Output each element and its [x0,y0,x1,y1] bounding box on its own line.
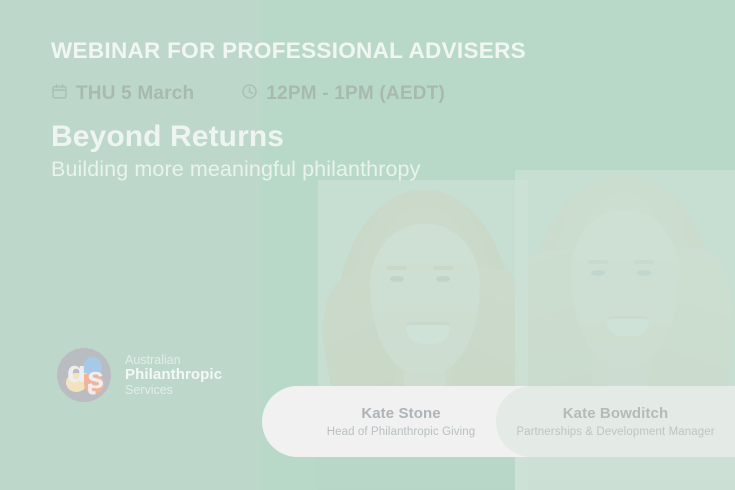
clock-icon [241,83,258,105]
logo-line-australian: Australian [125,353,222,367]
speaker-cards: Kate Stone Head of Philanthropic Giving … [0,386,735,457]
speaker-name: Kate Stone [361,405,440,422]
logo-line-philanthropic: Philanthropic [125,367,222,384]
speaker-role: Head of Philanthropic Giving [327,426,476,438]
event-time: 12PM - 1PM (AEDT) [241,83,445,105]
speaker-role: Partnerships & Development Manager [516,426,714,438]
webinar-promo-banner: WEBINAR FOR PROFESSIONAL ADVISERS THU 5 … [0,0,735,490]
banner-title: Beyond Returns [51,120,284,154]
event-date: THU 5 March [51,83,194,105]
speaker-name: Kate Bowditch [563,405,668,422]
calendar-icon [51,83,68,105]
event-time-text: 12PM - 1PM (AEDT) [266,83,445,105]
speaker-card-kate-bowditch: Kate Bowditch Partnerships & Development… [496,386,735,457]
logo-letter-a: ɑ [67,354,86,390]
banner-subtitle: Building more meaningful philanthropy [51,157,420,182]
banner-kicker: WEBINAR FOR PROFESSIONAL ADVISERS [51,38,526,64]
event-meta: THU 5 March 12PM - 1PM (AEDT) [51,83,445,105]
event-date-text: THU 5 March [76,83,194,105]
